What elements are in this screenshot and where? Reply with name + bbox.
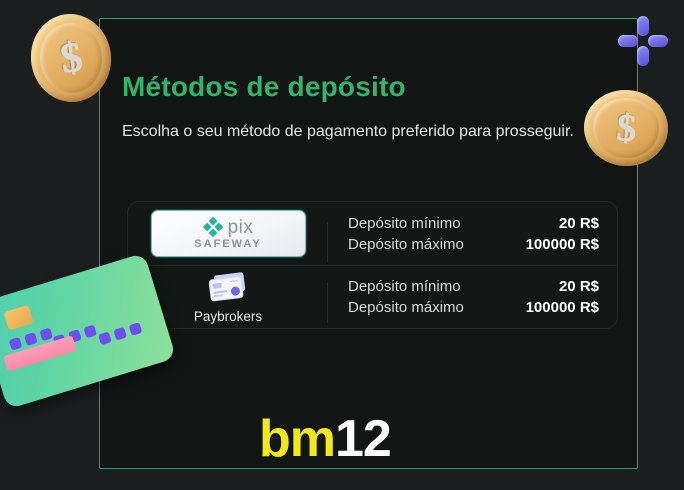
card-chip-icon [3, 305, 33, 331]
min-deposit-label: Depósito mínimo [348, 278, 461, 295]
paybrokers-label: Paybrokers [194, 309, 262, 324]
credit-cards-icon [205, 271, 251, 305]
pix-safeway-logo: pix SAFEWAY [151, 210, 306, 257]
min-deposit-value: 20 R$ [559, 215, 599, 232]
method-limits-paybrokers: Depósito mínimo 20 R$ Depósito máximo 10… [328, 278, 599, 316]
pix-diamond-icon [203, 217, 223, 237]
page-subtitle: Escolha o seu método de pagamento prefer… [122, 118, 580, 145]
card-digits-group [53, 324, 97, 347]
safeway-wordmark: SAFEWAY [194, 238, 261, 250]
card-digits-group [9, 327, 53, 350]
method-brand-pix[interactable]: pix SAFEWAY [128, 210, 328, 257]
min-deposit-value: 20 R$ [559, 278, 599, 295]
max-deposit-label: Depósito máximo [348, 236, 464, 253]
list-item[interactable]: pix SAFEWAY Depósito mínimo 20 R$ Depósi… [128, 202, 617, 265]
max-deposit-value: 100000 R$ [526, 236, 599, 253]
divider [327, 222, 328, 262]
payment-methods-list: pix SAFEWAY Depósito mínimo 20 R$ Depósi… [127, 201, 618, 329]
max-deposit-value: 100000 R$ [526, 299, 599, 316]
list-item[interactable]: Paybrokers Depósito mínimo 20 R$ Depósit… [128, 265, 617, 328]
min-deposit-label: Depósito mínimo [348, 215, 461, 232]
screenshot-root: Métodos de depósito Escolha o seu método… [0, 0, 684, 490]
coin-dollar-symbol: $ [57, 33, 84, 83]
divider [327, 283, 328, 323]
deposit-methods-panel: Métodos de depósito Escolha o seu método… [99, 18, 638, 469]
method-limits-pix: Depósito mínimo 20 R$ Depósito máximo 10… [328, 215, 599, 253]
pix-wordmark: pix [228, 219, 254, 236]
method-brand-paybrokers[interactable]: Paybrokers [128, 271, 328, 324]
page-title: Métodos de depósito [122, 71, 406, 103]
max-deposit-label: Depósito máximo [348, 299, 464, 316]
card-stripe [3, 335, 77, 371]
